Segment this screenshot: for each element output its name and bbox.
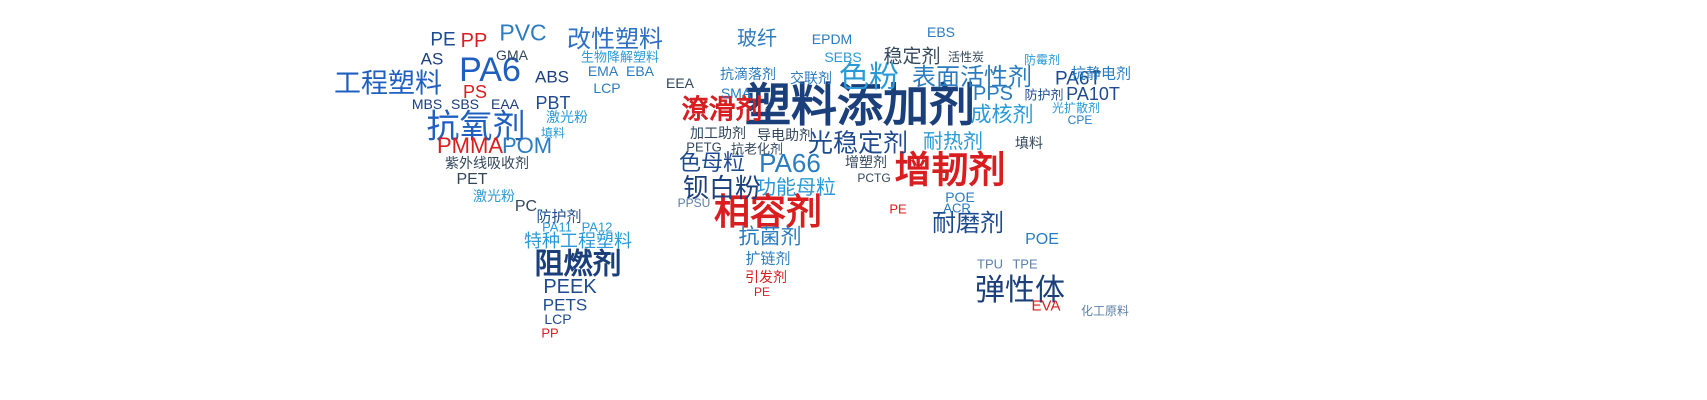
wordcloud-word[interactable]: 扩链剂 — [745, 252, 790, 267]
wordcloud-word[interactable]: PPSU — [678, 197, 711, 209]
wordcloud-word[interactable]: 激光粉 — [546, 110, 588, 124]
wordcloud-word[interactable]: EEA — [666, 76, 694, 90]
wordcloud-word[interactable]: PE — [430, 31, 455, 50]
wordcloud-word[interactable]: PVC — [499, 22, 546, 45]
wordcloud-word[interactable]: 生物降解塑料 — [581, 51, 659, 64]
wordcloud-word[interactable]: 填料 — [1015, 136, 1043, 150]
wordcloud-word[interactable]: GMA — [496, 48, 528, 62]
wordcloud-word[interactable]: EMA — [588, 64, 618, 78]
wordcloud-word[interactable]: 功能母粒 — [756, 178, 836, 198]
wordcloud-word[interactable]: 紫外线吸收剂 — [445, 156, 529, 170]
wordcloud-word[interactable]: 工程塑料 — [334, 71, 442, 98]
wordcloud-word[interactable]: EVA — [1032, 299, 1061, 314]
wordcloud-word[interactable]: 导电助剂 — [757, 128, 813, 142]
wordcloud-word[interactable]: PET — [456, 172, 487, 188]
wordcloud-word[interactable]: PC — [515, 199, 537, 215]
wordcloud-word[interactable]: SEBS — [824, 50, 861, 64]
wordcloud-word[interactable]: PPS — [973, 84, 1013, 104]
wordcloud-word[interactable]: EPDM — [812, 32, 852, 46]
wordcloud-word[interactable]: 改性塑料 — [567, 28, 663, 52]
wordcloud-word[interactable]: PA12 — [582, 221, 613, 234]
wordcloud-word[interactable]: 稳定剂 — [883, 48, 940, 67]
wordcloud-word[interactable]: POE — [1025, 232, 1059, 248]
wordcloud-word[interactable]: 加工助剂 — [690, 126, 746, 140]
wordcloud-word[interactable]: MBS — [412, 97, 442, 111]
wordcloud-word[interactable]: SMA — [721, 86, 751, 100]
wordcloud-word[interactable]: 抗老化剂 — [731, 143, 783, 156]
wordcloud-word[interactable]: EAA — [491, 97, 519, 111]
wordcloud-word[interactable]: PMMA — [437, 135, 503, 157]
wordcloud-word[interactable]: EBA — [626, 64, 654, 78]
wordcloud-word[interactable]: CPE — [1068, 114, 1093, 126]
wordcloud-word[interactable]: TPE — [1012, 258, 1037, 271]
wordcloud-word[interactable]: PP — [461, 31, 488, 51]
wordcloud-canvas: 塑料添加剂增韧剂相容剂抗氧剂阻燃剂弹性体PA6潦滑剂工程塑料色粉钡白粉表面活性剂… — [0, 0, 1707, 400]
wordcloud-word[interactable]: 成核剂 — [971, 105, 1034, 126]
wordcloud-word[interactable]: 激光粉 — [473, 189, 515, 203]
wordcloud-word[interactable]: PP — [541, 327, 558, 340]
wordcloud-word[interactable]: 防霉剂 — [1024, 54, 1060, 66]
wordcloud-word[interactable]: 耐热剂 — [923, 132, 983, 152]
wordcloud-word[interactable]: 增韧剂 — [895, 152, 1006, 189]
wordcloud-word[interactable]: PE — [889, 203, 906, 216]
wordcloud-word[interactable]: 引发剂 — [745, 270, 787, 284]
wordcloud-word[interactable]: 抗滴落剂 — [720, 67, 776, 81]
wordcloud-word[interactable]: PA11 — [542, 221, 572, 234]
wordcloud-word[interactable]: PETG — [686, 141, 721, 154]
wordcloud-word[interactable]: 特种工程塑料 — [524, 232, 632, 250]
wordcloud-word[interactable]: 耐磨剂 — [932, 212, 1004, 236]
wordcloud-word[interactable]: TPU — [977, 258, 1003, 271]
wordcloud-word[interactable]: 化工原料 — [1081, 305, 1129, 317]
wordcloud-word[interactable]: PCTG — [857, 172, 890, 184]
wordcloud-word[interactable]: 玻纤 — [737, 29, 777, 49]
wordcloud-word[interactable]: LCP — [544, 312, 571, 326]
wordcloud-word[interactable]: 活性炭 — [948, 51, 984, 63]
wordcloud-word[interactable]: 色粉 — [839, 63, 899, 93]
wordcloud-word[interactable]: 抗菌剂 — [739, 227, 802, 248]
wordcloud-word[interactable]: LCP — [593, 81, 620, 95]
wordcloud-word[interactable]: ACR — [943, 202, 970, 215]
wordcloud-word[interactable]: 填料 — [541, 127, 565, 139]
wordcloud-word[interactable]: PE — [754, 286, 770, 298]
wordcloud-word[interactable]: SBS — [451, 97, 479, 111]
wordcloud-word[interactable]: EBS — [927, 25, 955, 39]
wordcloud-word[interactable]: AS — [421, 51, 444, 68]
wordcloud-word[interactable]: 防护剂 — [1024, 89, 1063, 102]
wordcloud-word[interactable]: PEEK — [543, 277, 596, 297]
wordcloud-word[interactable]: 抗静电剂 — [1071, 67, 1131, 82]
wordcloud-word[interactable]: 交联剂 — [790, 71, 832, 85]
wordcloud-word[interactable]: 增塑剂 — [845, 155, 887, 169]
wordcloud-word[interactable]: ABS — [535, 69, 569, 86]
wordcloud-word[interactable]: 光稳定剂 — [808, 132, 908, 157]
